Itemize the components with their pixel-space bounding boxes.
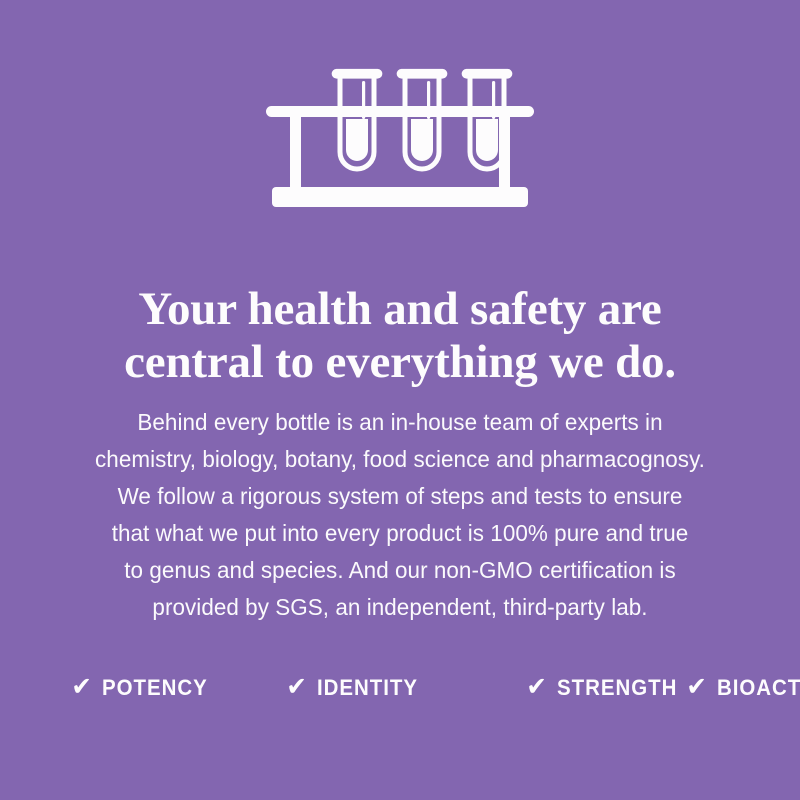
headline-line-1: Your health and safety are [40,283,760,336]
body-paragraph: Behind every bottle is an in-house team … [75,404,724,626]
body-line-5: to genus and species. And our non-GMO ce… [75,552,724,589]
body-line-6: provided by SGS, an independent, third-p… [75,589,724,626]
checklist-label: STRENGTH [557,677,677,699]
quality-promise-panel: Your health and safety are central to ev… [0,0,800,800]
checklist-label: IDENTITY [317,677,418,699]
checklist-label: POTENCY [102,677,208,699]
check-icon: ✔ [71,675,91,701]
quality-checklist: ✔ POTENCY ✔ IDENTITY ✔ STRENGTH ✔ BIOACT… [72,664,772,711]
checklist-item-potency: ✔ POTENCY [72,676,287,699]
check-icon: ✔ [686,675,706,701]
check-icon: ✔ [526,675,546,701]
check-icon: ✔ [286,675,306,701]
page-title: Your health and safety are central to ev… [40,283,760,389]
body-line-2: chemistry, biology, botany, food science… [75,441,724,478]
headline-line-2: central to everything we do. [40,336,760,389]
body-line-1: Behind every bottle is an in-house team … [75,404,724,441]
body-line-3: We follow a rigorous system of steps and… [75,478,724,515]
checklist-item-strength: ✔ STRENGTH [527,676,687,699]
test-tube-rack-icon [0,48,800,218]
checklist-item-identity: ✔ IDENTITY [287,676,527,699]
checklist-label: BIOACTIVITY [717,677,800,699]
checklist-item-bioactivity: ✔ BIOACTIVITY [687,676,800,699]
body-line-4: that what we put into every product is 1… [75,515,724,552]
